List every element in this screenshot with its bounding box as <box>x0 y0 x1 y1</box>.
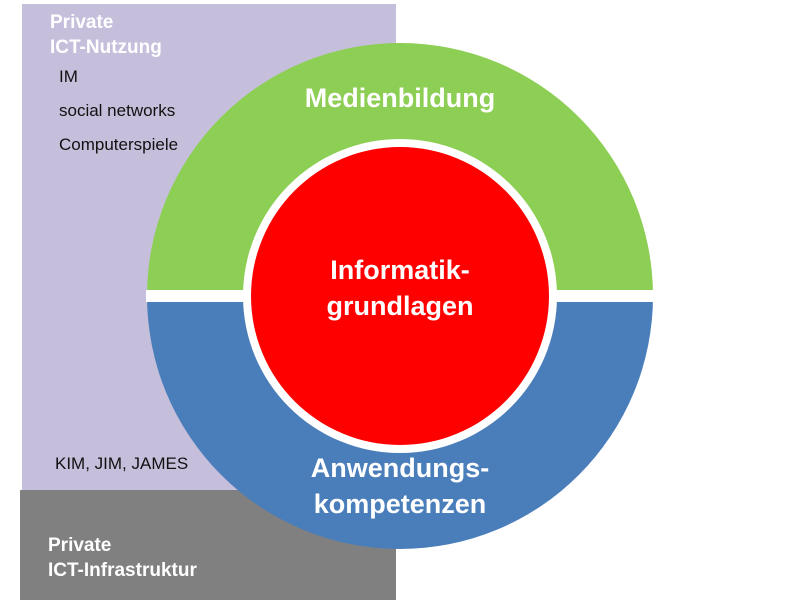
diagram-canvas: Private ICT-Nutzung IM social networks C… <box>0 0 800 600</box>
core-circle-informatikgrundlagen[interactable] <box>251 147 549 445</box>
ict-competence-wheel <box>146 42 654 550</box>
